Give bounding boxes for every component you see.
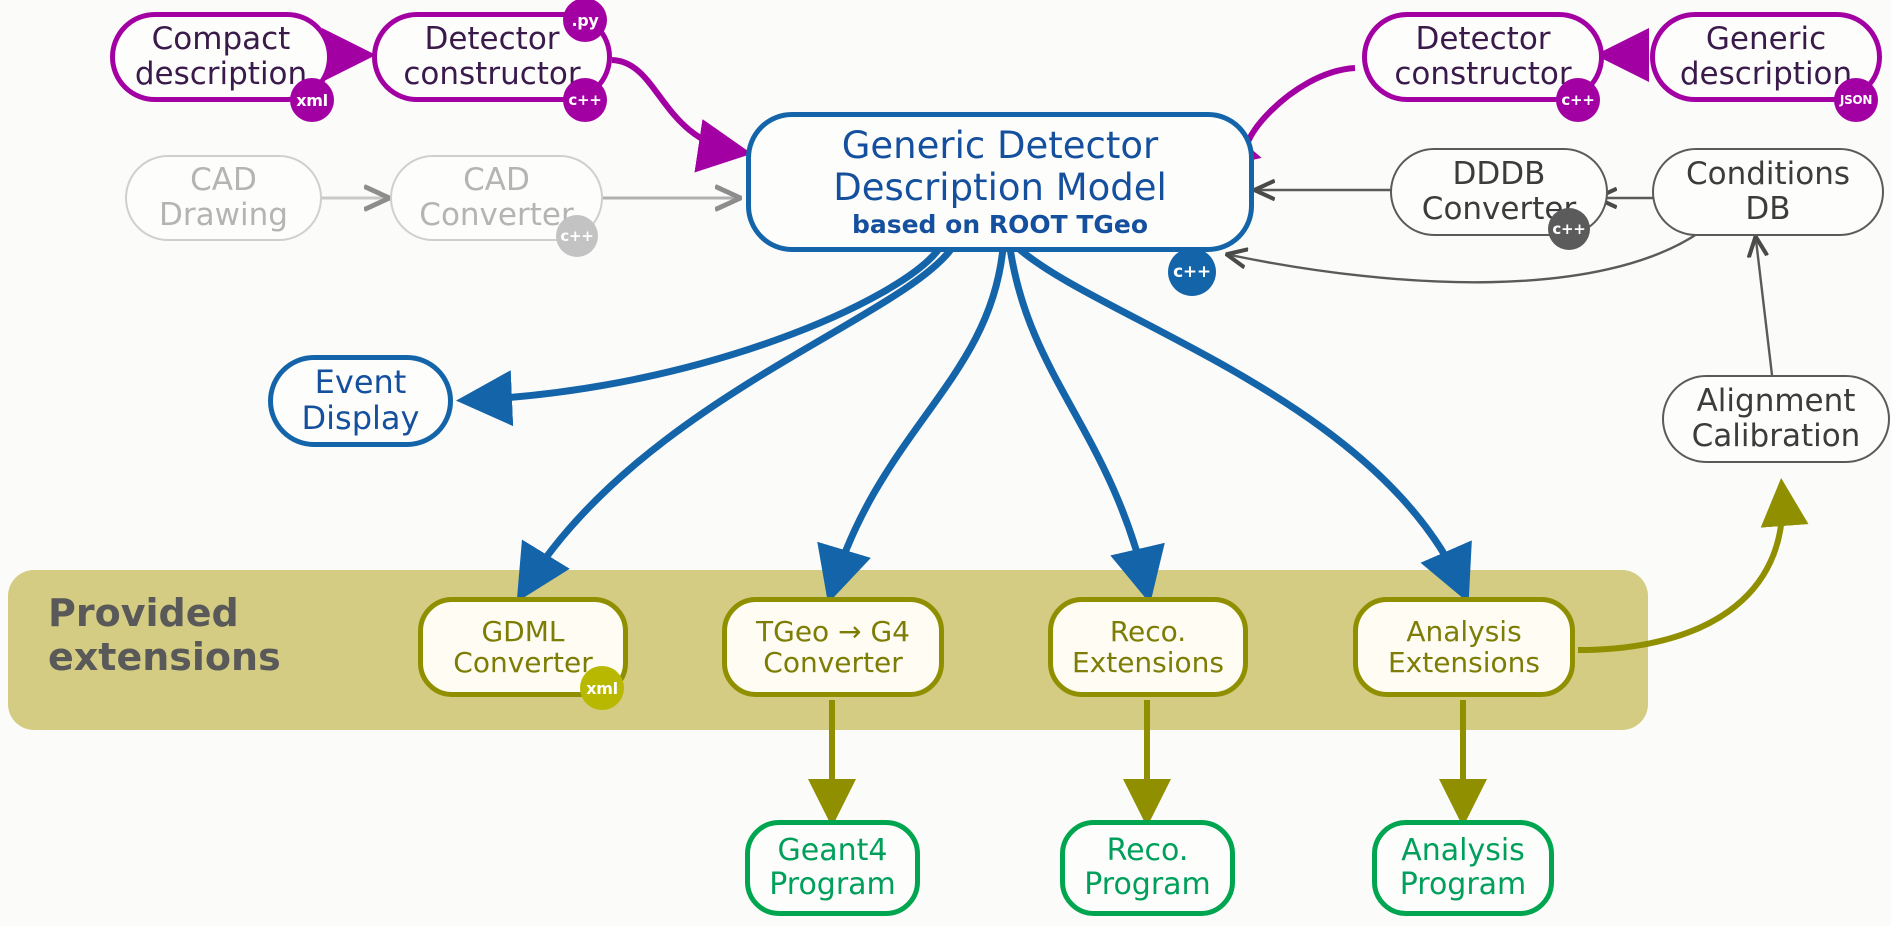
node-label-line1: Alignment <box>1697 384 1856 419</box>
node-label-line2: Converter <box>419 198 573 233</box>
node-tgeo-g4-converter[interactable]: TGeo → G4 Converter <box>722 597 944 697</box>
node-label-line1: CAD <box>190 163 257 198</box>
core-label-subtitle: based on ROOT TGeo <box>852 211 1148 239</box>
node-label-line2: Drawing <box>159 198 288 233</box>
node-label-line1: Reco. <box>1107 834 1189 868</box>
node-generic-detector-description-model[interactable]: Generic Detector Description Model based… <box>746 112 1254 252</box>
node-conditions-db[interactable]: Conditions DB <box>1652 148 1884 236</box>
node-label-line1: CAD <box>463 163 530 198</box>
node-label-line2: Program <box>1400 868 1527 902</box>
node-label-line1: GDML <box>481 616 564 647</box>
node-cad-drawing[interactable]: CAD Drawing <box>125 155 322 241</box>
node-label-line1: Detector <box>1415 22 1550 57</box>
node-label-line1: Analysis <box>1401 834 1525 868</box>
node-label-line2: Program <box>769 868 896 902</box>
badge-cpp-core: c++ <box>1168 248 1216 296</box>
node-label-line1: Generic <box>1706 22 1826 57</box>
badge-json-generic-description: JSON <box>1834 78 1878 122</box>
node-label-line2: Extensions <box>1072 647 1224 678</box>
node-analysis-extensions[interactable]: Analysis Extensions <box>1353 597 1575 697</box>
provided-extensions-label: Provided extensions <box>48 592 348 679</box>
node-event-display[interactable]: Event Display <box>268 355 453 447</box>
band-label-line1: Provided <box>48 591 239 635</box>
node-label-line2: DB <box>1745 192 1790 227</box>
node-reco-program[interactable]: Reco. Program <box>1060 820 1235 916</box>
band-label-line2: extensions <box>48 635 281 679</box>
node-label-line1: DDDB <box>1453 157 1546 192</box>
badge-cpp-cad-converter: c++ <box>556 215 598 257</box>
node-label-line2: Display <box>302 401 420 437</box>
badge-xml-compact: xml <box>290 78 334 122</box>
node-label-line2: Converter <box>453 647 592 678</box>
node-label-line1: Compact <box>152 22 291 57</box>
badge-xml-gdml-converter: xml <box>580 666 624 710</box>
node-label-line1: Geant4 <box>778 834 888 868</box>
node-label-line1: Detector <box>424 22 559 57</box>
node-label-line1: Event <box>315 365 407 401</box>
node-label-line1: Analysis <box>1406 616 1521 647</box>
node-label-line2: description <box>1680 57 1852 92</box>
node-label-line2: Program <box>1084 868 1211 902</box>
node-reco-extensions[interactable]: Reco. Extensions <box>1048 597 1248 697</box>
node-label-line1: Conditions <box>1686 157 1850 192</box>
core-label-line1: Generic Detector <box>842 125 1158 166</box>
badge-cpp-detector-constructor-right: c++ <box>1556 78 1600 122</box>
badge-cpp-dddb-converter: c++ <box>1548 208 1590 250</box>
diagram-canvas: Provided extensions <box>0 0 1891 926</box>
core-label-line2: Description Model <box>833 167 1167 208</box>
node-alignment-calibration[interactable]: Alignment Calibration <box>1662 375 1890 463</box>
badge-py-detector-constructor-left: .py <box>563 0 607 42</box>
node-label-line2: description <box>135 57 307 92</box>
node-label-line2: Calibration <box>1692 419 1861 454</box>
node-label-line2: Extensions <box>1388 647 1540 678</box>
node-geant4-program[interactable]: Geant4 Program <box>745 820 920 916</box>
node-label-line2: constructor <box>1394 57 1571 92</box>
node-label-line1: Reco. <box>1110 616 1186 647</box>
node-label-line1: TGeo → G4 <box>756 616 910 647</box>
badge-cpp-detector-constructor-left: c++ <box>563 78 607 122</box>
node-label-line2: constructor <box>403 57 580 92</box>
node-label-line2: Converter <box>763 647 902 678</box>
node-analysis-program[interactable]: Analysis Program <box>1372 820 1554 916</box>
